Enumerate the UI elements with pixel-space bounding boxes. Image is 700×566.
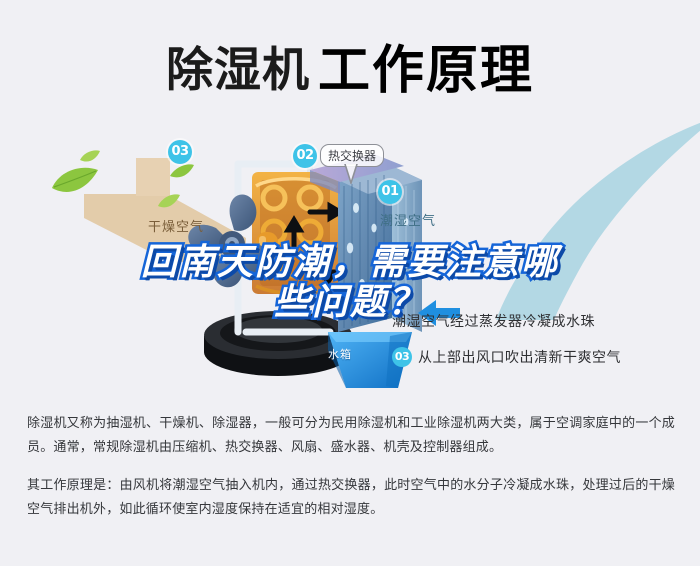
badge-01-humid-air: 01 xyxy=(378,180,402,204)
title-part-2: 工作原理 xyxy=(318,41,534,101)
water-tank-label: 水箱 xyxy=(328,346,352,362)
annotation-condensation: 潮湿空气经过蒸发器冷凝成水珠 xyxy=(392,311,595,331)
dehumidifier-diagram: 03 干燥空气 02 热交换器 01 潮湿空气 水箱 潮湿空气经过蒸发器冷凝成水… xyxy=(0,118,700,408)
humid-air-label: 潮湿空气 xyxy=(380,210,436,229)
article-body: 除湿机又称为抽湿机、干燥机、除湿器，一般可分为民用除湿机和工业除湿机两大类，属于… xyxy=(27,412,675,532)
badge-03-dry-air: 03 xyxy=(168,140,192,164)
annotation-badge-03: 03 xyxy=(392,347,412,367)
body-paragraph-1: 除湿机又称为抽湿机、干燥机、除湿器，一般可分为民用除湿机和工业除湿机两大类，属于… xyxy=(27,412,675,460)
dry-air-label: 干燥空气 xyxy=(148,216,204,235)
body-paragraph-2: 其工作原理是：由风机将潮湿空气抽入机内，通过热交换器，此时空气中的水分子冷凝成水… xyxy=(27,474,675,522)
page-title: 除湿机工作原理 xyxy=(0,28,700,103)
title-part-1: 除湿机 xyxy=(166,43,310,98)
badge-02-heat-exchanger: 02 xyxy=(293,144,317,168)
poster-root: 除湿机工作原理 xyxy=(0,0,700,566)
annotation-outlet-air-text: 从上部出风口吹出清新干爽空气 xyxy=(418,347,621,367)
annotation-outlet-air: 03 从上部出风口吹出清新干爽空气 xyxy=(392,347,621,367)
callout-pointer-icon xyxy=(344,164,358,184)
